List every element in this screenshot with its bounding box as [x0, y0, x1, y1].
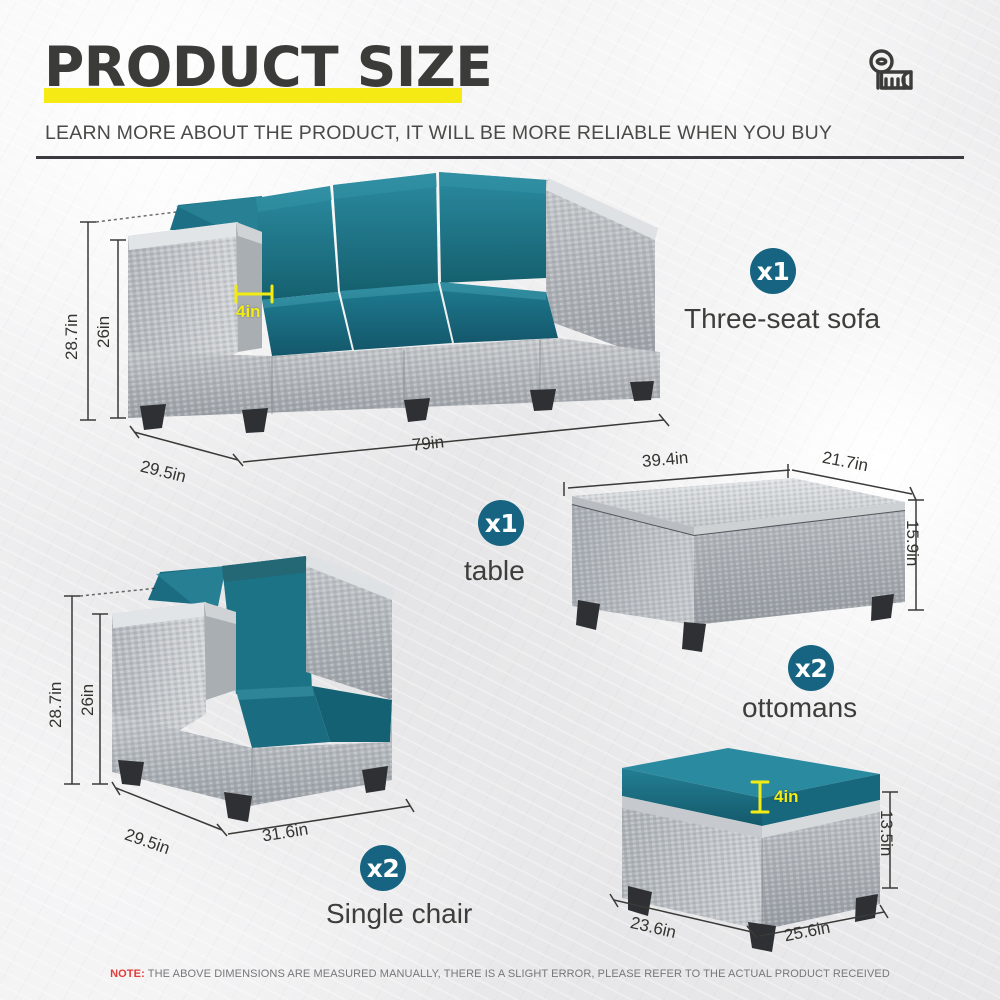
footer-note-label: NOTE:: [110, 968, 145, 980]
footer-note: NOTE: THE ABOVE DIMENSIONS ARE MEASURED …: [0, 968, 1000, 980]
ottoman-dim-height: 13.5in: [876, 810, 896, 856]
footer-note-text: THE ABOVE DIMENSIONS ARE MEASURED MANUAL…: [145, 968, 890, 980]
page-title-wrap: PRODUCT SIZE: [44, 38, 492, 96]
page-title: PRODUCT SIZE: [44, 38, 492, 96]
ottoman-caption: ottomans: [742, 692, 857, 724]
ottoman-qty-badge: x2: [788, 645, 834, 691]
ottoman-dim-cushion-thickness: 4in: [774, 787, 799, 807]
product-ottoman: 4in 13.5in 23.6in 25.6in x2 ottomans: [0, 0, 1000, 1000]
